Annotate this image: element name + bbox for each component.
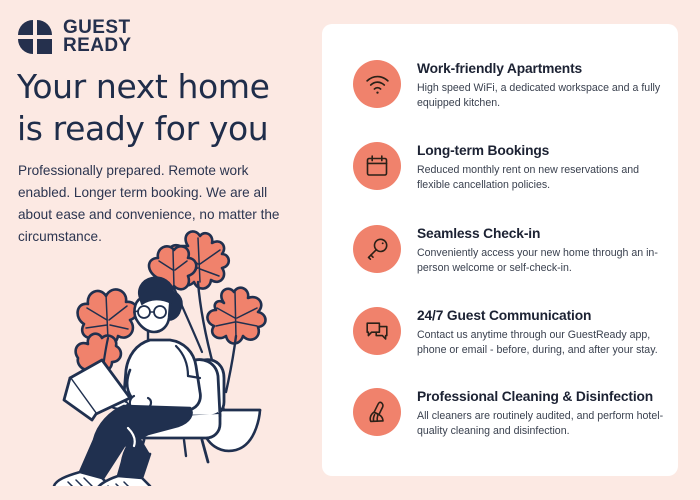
feature-item-long-term-bookings[interactable]: Long-term Bookings Reduced monthly rent … <box>353 142 668 193</box>
feature-title: 24/7 Guest Communication <box>417 308 668 325</box>
key-icon <box>353 225 401 273</box>
feature-description: Reduced monthly rent on new reservations… <box>417 163 668 194</box>
feature-text: Seamless Check-in Conveniently access yo… <box>401 225 668 276</box>
headline-line-2: is ready for you <box>17 108 307 150</box>
feature-text: 24/7 Guest Communication Contact us anyt… <box>401 307 668 358</box>
feature-title: Long-term Bookings <box>417 143 668 160</box>
page-title: Your next home is ready for you <box>17 66 307 149</box>
marketing-page: GUEST READY Your next home is ready for … <box>0 0 700 500</box>
calendar-icon <box>353 142 401 190</box>
broom-icon <box>353 388 401 436</box>
brand-name-line2: READY <box>63 37 132 55</box>
feature-text: Work-friendly Apartments High speed WiFi… <box>401 60 668 111</box>
feature-title: Professional Cleaning & Disinfection <box>417 389 668 406</box>
hero-column: GUEST READY Your next home is ready for … <box>0 0 320 500</box>
chat-bubbles-icon <box>353 307 401 355</box>
feature-description: High speed WiFi, a dedicated workspace a… <box>417 81 668 112</box>
feature-title: Work-friendly Apartments <box>417 61 668 78</box>
feature-item-cleaning-disinfection[interactable]: Professional Cleaning & Disinfection All… <box>353 388 668 439</box>
feature-item-seamless-check-in[interactable]: Seamless Check-in Conveniently access yo… <box>353 225 668 276</box>
feature-title: Seamless Check-in <box>417 226 668 243</box>
feature-card: Work-friendly Apartments High speed WiFi… <box>322 24 678 476</box>
feature-description: All cleaners are routinely audited, and … <box>417 409 668 440</box>
brand-logo[interactable]: GUEST READY <box>16 18 132 56</box>
brand-wordmark: GUEST READY <box>63 19 132 55</box>
feature-text: Long-term Bookings Reduced monthly rent … <box>401 142 668 193</box>
feature-item-guest-communication[interactable]: 24/7 Guest Communication Contact us anyt… <box>353 307 668 358</box>
headline-line-1: Your next home <box>17 66 307 108</box>
guestready-quadrant-logo-icon <box>16 18 54 56</box>
feature-text: Professional Cleaning & Disinfection All… <box>401 388 668 439</box>
feature-item-work-friendly-apartments[interactable]: Work-friendly Apartments High speed WiFi… <box>353 60 668 111</box>
hero-illustration <box>38 228 310 486</box>
feature-description: Conveniently access your new home throug… <box>417 246 668 277</box>
wifi-icon <box>353 60 401 108</box>
feature-description: Contact us anytime through our GuestRead… <box>417 328 668 359</box>
